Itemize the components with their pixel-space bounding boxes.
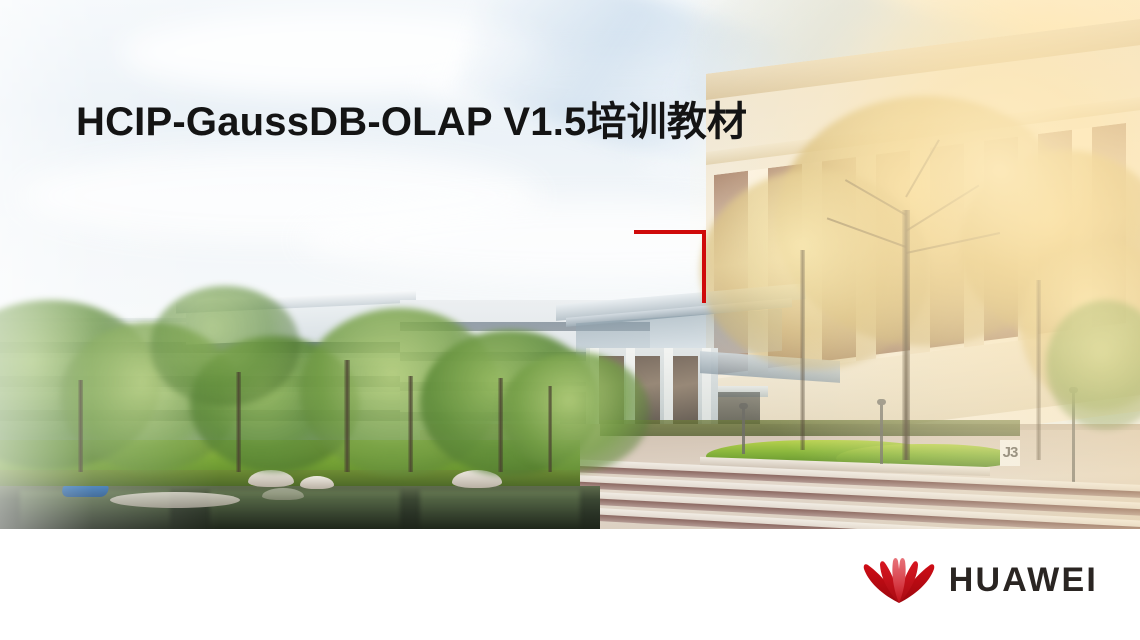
water-reflection — [420, 490, 580, 529]
street-lamp — [880, 404, 883, 464]
red-corner-bracket-horizontal — [634, 230, 706, 234]
rock — [248, 470, 294, 487]
tree-canopy — [700, 170, 930, 370]
small-boat — [61, 486, 109, 497]
page-title: HCIP-GaussDB-OLAP V1.5培训教材 — [76, 89, 747, 147]
huawei-logo: HUAWEI — [863, 555, 1098, 605]
building-sign-j3: J3 — [1000, 440, 1020, 466]
tree-trunk — [498, 378, 503, 472]
tree-trunk — [236, 372, 241, 472]
rock — [300, 476, 334, 489]
tree-trunk — [344, 360, 350, 472]
tree-trunk — [78, 380, 83, 472]
red-corner-bracket-vertical — [702, 230, 706, 303]
tree-canopy — [500, 352, 650, 472]
title-slide: J3 — [0, 0, 1140, 640]
tree-canopy — [150, 286, 300, 406]
pavilion-window — [672, 356, 698, 430]
footer-bar: HUAWEI — [0, 529, 1140, 640]
tree-trunk — [408, 376, 413, 472]
tree-trunk — [800, 250, 805, 450]
tree-trunk — [548, 386, 552, 472]
tree-trunk — [902, 210, 910, 460]
huawei-flower-icon — [863, 555, 935, 605]
plaza-hedge — [600, 420, 1020, 436]
campus-hero-photo: J3 — [0, 0, 1140, 529]
huawei-wordmark: HUAWEI — [949, 563, 1098, 597]
rock-reflection — [262, 488, 304, 500]
street-lamp — [742, 408, 745, 454]
tree-trunk — [1036, 280, 1041, 460]
water-reflection — [210, 490, 400, 529]
water-shoal — [110, 492, 240, 508]
